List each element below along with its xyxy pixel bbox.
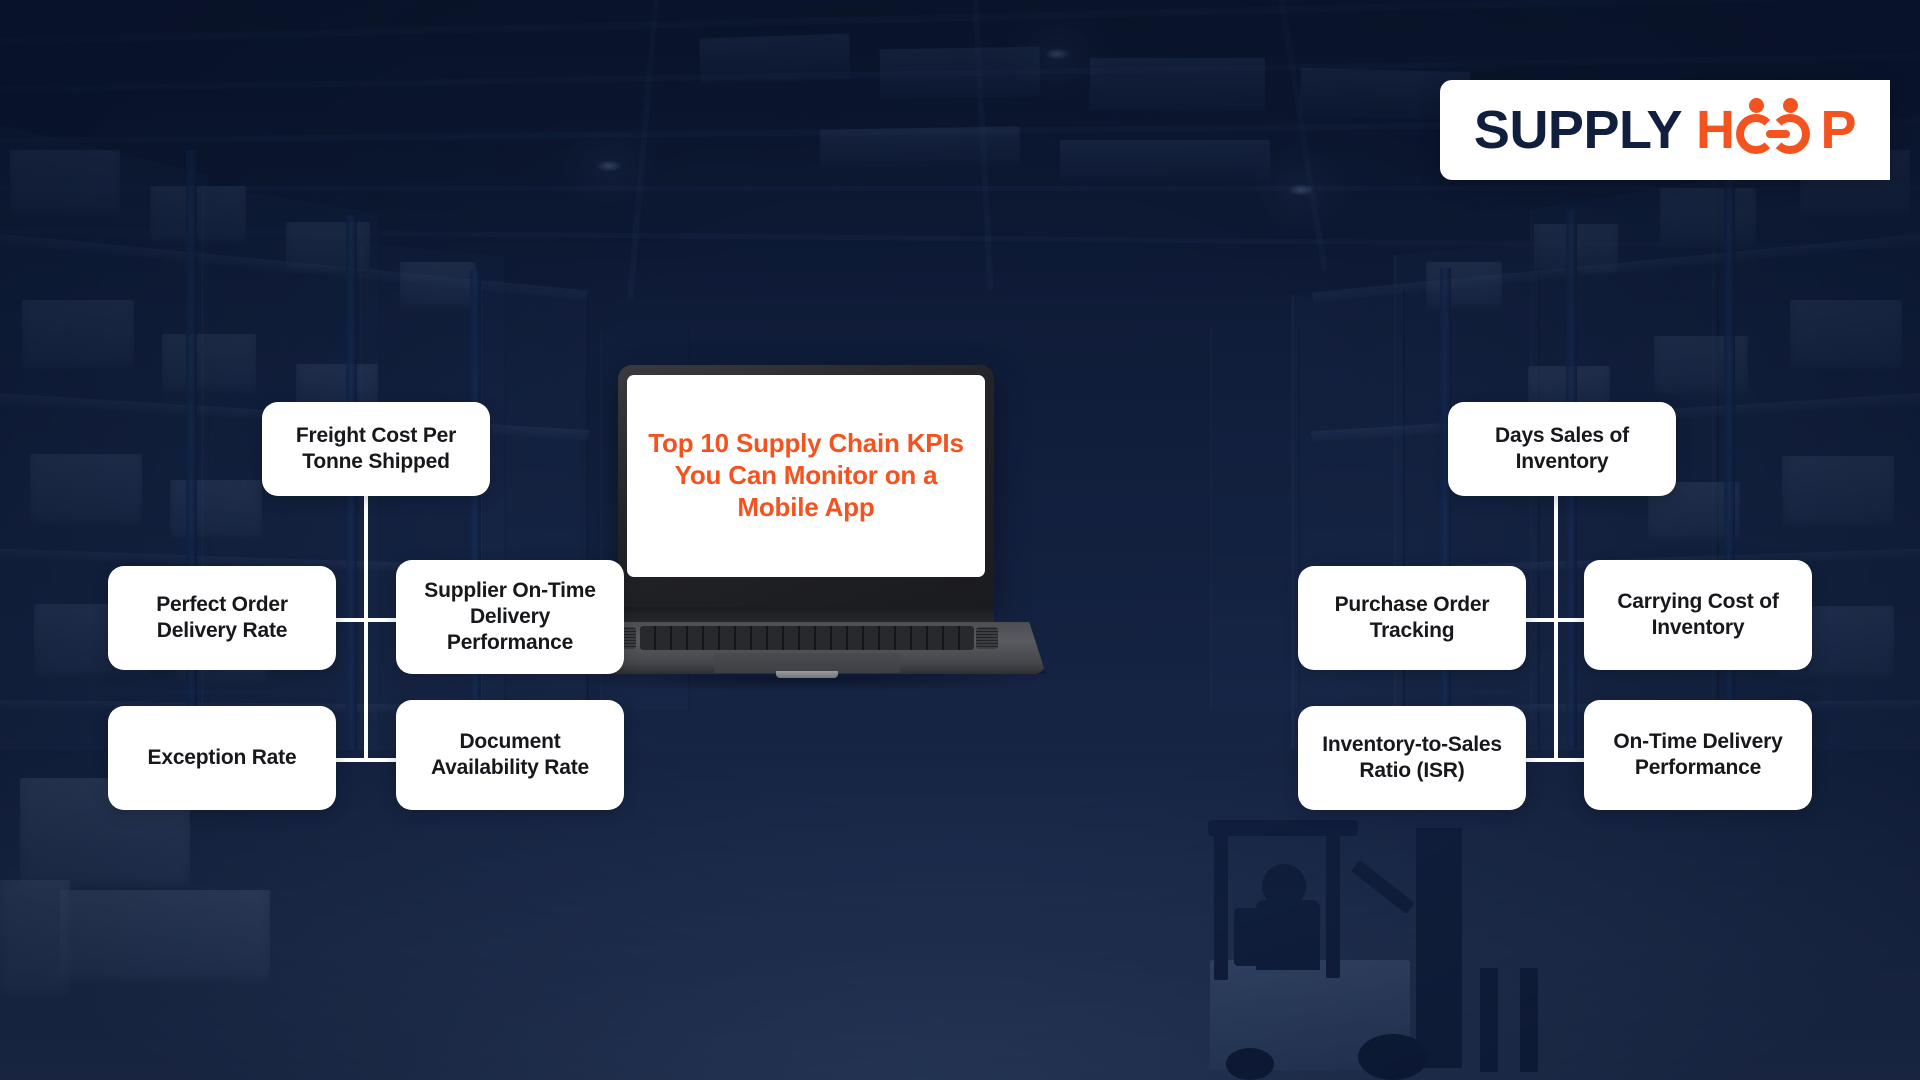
kpi-label: On-Time Delivery Performance [1598,729,1798,781]
kpi-card-inventory-to-sales-ratio-isr[interactable]: Inventory-to-Sales Ratio (ISR) [1298,706,1526,810]
screen-headline: Top 10 Supply Chain KPIs You Can Monitor… [647,428,965,523]
kpi-label: Document Availability Rate [410,729,610,781]
kpi-card-carrying-cost-of-inventory[interactable]: Carrying Cost of Inventory [1584,560,1812,670]
kpi-card-supplier-on-time-delivery-performance[interactable]: Supplier On-Time Delivery Performance [396,560,624,674]
brand-logo[interactable]: SUPPLY H P [1440,80,1890,180]
logo-letter-p: P [1821,99,1857,161]
laptop-keyboard [640,626,974,650]
kpi-card-perfect-order-delivery-rate[interactable]: Perfect Order Delivery Rate [108,566,336,670]
kpi-label: Supplier On-Time Delivery Performance [410,578,610,656]
laptop-lid: Top 10 Supply Chain KPIs You Can Monitor… [618,365,994,607]
laptop-screen[interactable]: Top 10 Supply Chain KPIs You Can Monitor… [627,375,985,577]
laptop-trackpad [714,653,900,673]
kpi-card-exception-rate[interactable]: Exception Rate [108,706,336,810]
kpi-card-document-availability-rate[interactable]: Document Availability Rate [396,700,624,810]
kpi-card-purchase-order-tracking[interactable]: Purchase Order Tracking [1298,566,1526,670]
kpi-card-days-sales-of-inventory[interactable]: Days Sales of Inventory [1448,402,1676,496]
kpi-card-freight-cost-per-tonne-shipped[interactable]: Freight Cost Per Tonne Shipped [262,402,490,496]
logo-letter-h: H [1696,99,1735,161]
logo-wordmark-supply: SUPPLY [1474,99,1682,161]
kpi-label: Perfect Order Delivery Rate [122,592,322,644]
kpi-label: Exception Rate [148,745,297,771]
kpi-label: Freight Cost Per Tonne Shipped [276,423,476,475]
kpi-label: Days Sales of Inventory [1462,423,1662,475]
kpi-label: Carrying Cost of Inventory [1598,589,1798,641]
laptop-speaker-right [976,627,998,649]
kpi-label: Inventory-to-Sales Ratio (ISR) [1312,732,1512,784]
laptop-device: Top 10 Supply Chain KPIs You Can Monitor… [566,365,1046,685]
laptop-front-notch [776,671,838,678]
logo-wordmark-hoop: H P [1696,99,1856,161]
hoop-people-icon [1736,108,1820,152]
kpi-card-on-time-delivery-performance[interactable]: On-Time Delivery Performance [1584,700,1812,810]
kpi-label: Purchase Order Tracking [1312,592,1512,644]
infographic-stage: SUPPLY H P Top 10 Supply Chain KPIs You … [0,0,1920,1080]
